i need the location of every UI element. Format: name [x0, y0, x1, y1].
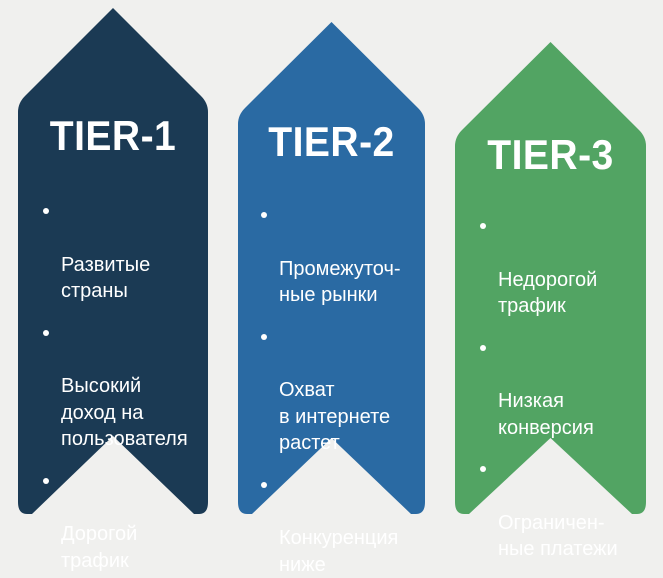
- bullet-dot-icon: [261, 212, 267, 218]
- bullet-dot-icon: [480, 466, 486, 472]
- list-item: Ограничен- ные платежи: [477, 457, 640, 563]
- list-item: Конкуренция ниже: [258, 473, 417, 578]
- tier-banner-1: TIER-1 Развитые страны Высокий доход на …: [18, 8, 208, 514]
- list-item: Охват в интернете растет: [258, 325, 417, 457]
- bullet-dot-icon: [43, 330, 49, 336]
- bullet-dot-icon: [43, 208, 49, 214]
- list-item: Развитые страны: [40, 199, 198, 305]
- list-item: Высокий доход на пользователя: [40, 321, 198, 453]
- banner-content-1: TIER-1 Развитые страны Высокий доход на …: [18, 8, 208, 574]
- bullet-dot-icon: [261, 482, 267, 488]
- list-item-label: Конкуренция ниже: [279, 527, 398, 575]
- bullet-dot-icon: [480, 223, 486, 229]
- bullet-dot-icon: [43, 478, 49, 484]
- list-item-label: Недорогой трафик: [498, 269, 597, 317]
- list-item-label: Охват в интернете растет: [279, 379, 390, 454]
- list-item: Недорогой трафик: [477, 214, 640, 320]
- list-item-label: Развитые страны: [61, 254, 150, 302]
- tier-title-3: TIER-3: [462, 134, 640, 176]
- tier-banner-2: TIER-2 Промежуточ- ные рынки Охват в инт…: [238, 22, 425, 514]
- tier-bullets-3: Недорогой трафик Низкая конверсия Ограни…: [455, 214, 646, 563]
- list-item-label: Высокий доход на пользователя: [61, 375, 188, 450]
- tier-title-1: TIER-1: [25, 115, 202, 157]
- tier-banner-3: TIER-3 Недорогой трафик Низкая конверсия…: [455, 42, 646, 514]
- list-item: Дорогой трафик: [40, 469, 198, 575]
- banner-content-3: TIER-3 Недорогой трафик Низкая конверсия…: [455, 42, 646, 563]
- list-item-label: Дорогой трафик: [61, 523, 137, 571]
- tier-bullets-1: Развитые страны Высокий доход на пользов…: [18, 199, 208, 574]
- infographic-stage: TIER-1 Развитые страны Высокий доход на …: [0, 0, 663, 520]
- list-item-label: Низкая конверсия: [498, 390, 594, 438]
- banner-content-2: TIER-2 Промежуточ- ные рынки Охват в инт…: [238, 22, 425, 578]
- list-item-label: Промежуточ- ные рынки: [279, 258, 401, 306]
- tier-bullets-2: Промежуточ- ные рынки Охват в интернете …: [238, 203, 425, 578]
- bullet-dot-icon: [480, 345, 486, 351]
- list-item-label: Ограничен- ные платежи: [498, 512, 618, 560]
- list-item: Низкая конверсия: [477, 336, 640, 442]
- bullet-dot-icon: [261, 334, 267, 340]
- tier-title-2: TIER-2: [245, 121, 419, 163]
- list-item: Промежуточ- ные рынки: [258, 203, 417, 309]
